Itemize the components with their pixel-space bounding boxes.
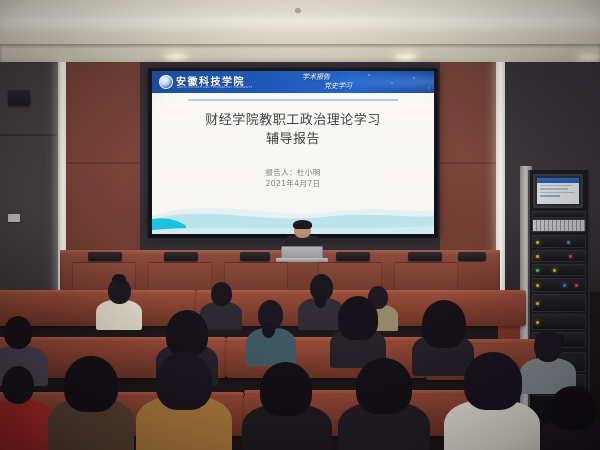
smoke-detector-icon [295,8,301,12]
slide-banner: 安徽科技学院 ANHUI SCIENCE AND TECHNOLOGY UNIV… [152,71,434,93]
audience-member-camel-coat [136,352,232,450]
laptop-base [276,258,328,262]
downlight-icon [165,52,187,61]
slide-presenter: 报告人：杜小明 [166,167,420,178]
rack-unit [532,278,586,292]
person-head [211,282,232,306]
calligraphy-line2: 党史学习 [324,82,392,91]
presenter-glasses-icon [295,228,310,232]
lecture-hall-photo: 安徽科技学院 ANHUI SCIENCE AND TECHNOLOGY UNIV… [0,0,600,450]
person-hair [166,310,208,356]
microphone-unit-icon [408,252,442,261]
status-led [536,241,539,244]
person-hair [260,362,312,416]
slide-subtitle: 报告人：杜小明 2021年4月7日 [166,167,420,189]
audience-member-dark-long-hair [330,296,386,364]
person-ponytail [315,294,326,308]
slide-date: 2021年4月7日 [166,178,420,189]
university-emblem-icon [159,75,173,89]
audience-member-brown-leather [48,356,134,450]
school-name-english: ANHUI SCIENCE AND TECHNOLOGY UNIVERSITY [177,86,252,89]
rack-unit [532,250,586,262]
person-hair [356,358,412,414]
calligraphy-line1: 学术报告 [302,73,392,82]
person-hair [422,300,466,348]
status-led [536,255,539,258]
wall-panel-left-dark [0,62,60,292]
screen-text-line [540,188,568,189]
laptop-on-desk [276,246,328,262]
screen-text-line [540,195,560,196]
audience-member-dark-long-hair [338,358,430,450]
wall-speaker-icon [8,90,30,106]
rack-unit [532,211,586,218]
microphone-unit-icon [164,252,198,261]
rack-unit [532,264,586,276]
status-led [575,284,578,287]
status-led [536,284,539,287]
wall-plate-icon [8,214,20,222]
microphone-unit-icon [458,252,486,261]
person-hair [338,296,378,340]
slide-divider-rule [188,99,398,101]
downlight-icon [395,52,417,61]
screen-text-line [540,185,572,186]
person-head [2,366,34,404]
audience-member-cream-coat [96,278,142,328]
status-led [569,255,572,258]
calligraphy-text: 学术报告 党史学习 [302,73,392,92]
person-body [96,300,142,330]
microphone-unit-icon [240,252,270,261]
microphone-unit-icon [88,252,122,261]
downlight-icon [578,52,600,61]
rack-monitor-screen [537,178,579,204]
audience-member-teal-collar [246,300,296,362]
bench-top-row1 [376,290,526,295]
person-ponytail [262,322,275,338]
status-led [536,302,539,305]
status-led [536,321,539,324]
window-title-bar [537,178,579,183]
rack-monitor [533,174,583,208]
microphone-unit-icon [336,252,370,261]
audience-member-white-hoodie [444,352,540,450]
patch-panel [532,219,586,232]
status-led [567,241,570,244]
ceiling-cove-light [0,18,600,30]
rack-unit [532,235,586,248]
person-head [4,316,32,349]
slide-title-line2: 辅导报告 [166,130,420,149]
person-hair [464,352,522,410]
rack-unit [532,314,586,330]
status-led [553,269,556,272]
slide-title-line1: 财经学院教职工政治理论学习 [166,111,420,130]
slide-title: 财经学院教职工政治理论学习 辅导报告 [166,111,420,149]
status-led [536,269,539,272]
person-hair [64,356,118,412]
desk-panel [394,262,458,290]
audience-member-black-jacket [242,362,332,450]
screen-text-line [540,192,574,193]
person-hair-bun [112,274,126,285]
person-hair [550,386,596,430]
projected-slide: 安徽科技学院 ANHUI SCIENCE AND TECHNOLOGY UNIV… [152,71,434,234]
rack-unit [532,294,586,312]
status-led [563,284,566,287]
audience-member-dark-long-hair [540,386,600,450]
person-hair [156,352,212,410]
